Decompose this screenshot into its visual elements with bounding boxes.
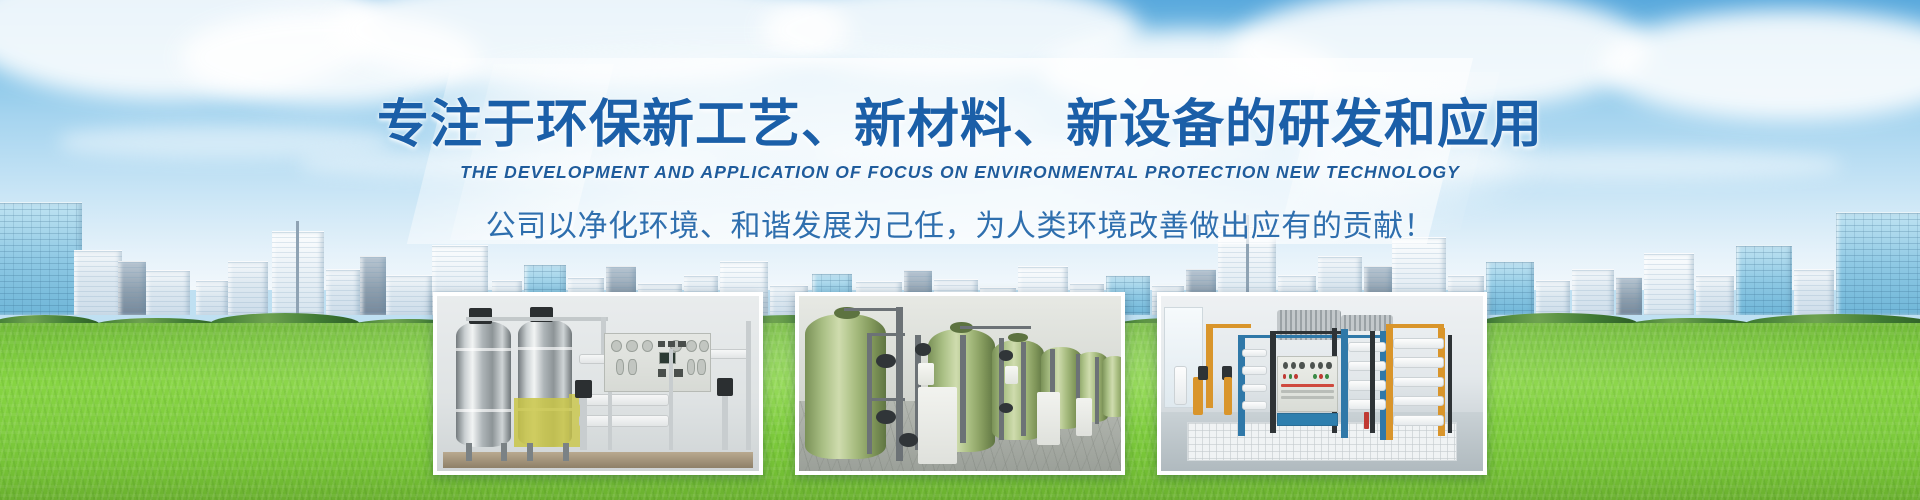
product-photo-3[interactable] [1157, 292, 1487, 475]
pipe [867, 333, 906, 336]
orange-frame [1386, 324, 1444, 328]
pump-body [1224, 377, 1232, 416]
page-title: 专注于环保新工艺、新材料、新设备的研发和应用 [0, 96, 1920, 154]
ro-membrane-vessel [1348, 399, 1387, 410]
skid-base [443, 452, 752, 468]
vertical-pipe [1095, 357, 1099, 424]
panel-base [1277, 413, 1338, 425]
valve [876, 354, 895, 368]
controller-box [918, 363, 934, 386]
blue-frame [1238, 335, 1386, 339]
ro-membrane-vessel [1348, 342, 1387, 353]
membrane-housing [579, 394, 669, 406]
control-panel [604, 333, 710, 393]
tiled-curb [1187, 422, 1457, 461]
industrial-ro-plant-image [1161, 296, 1483, 471]
ro-membrane-vessel [1393, 357, 1445, 368]
pump-motor [717, 378, 733, 396]
black-pipe [1270, 331, 1275, 433]
pipe [466, 317, 608, 321]
pump-motor [575, 380, 591, 398]
ro-membrane-vessel [1242, 401, 1268, 410]
english-subtitle: THE DEVELOPMENT AND APPLICATION OF FOCUS… [0, 162, 1920, 183]
valve [999, 350, 1013, 361]
ro-membrane-vessel [1393, 396, 1445, 407]
duct [1341, 315, 1393, 331]
pipe [867, 335, 873, 454]
pipe [844, 308, 902, 311]
company-tagline: 公司以净化环境、和谐发展为己任，为人类环境改善做出应有的贡献！ [0, 201, 1920, 245]
pump-motor [1198, 366, 1208, 380]
pump-column [580, 398, 586, 451]
pipe [867, 398, 906, 401]
black-pipe [1448, 335, 1453, 433]
ro-membrane-vessel [1393, 415, 1445, 426]
product-photo-2[interactable] [795, 292, 1125, 475]
ro-membrane-vessel [1348, 361, 1387, 372]
controller-box [1005, 366, 1018, 384]
valve [915, 343, 931, 355]
white-brine-tank [918, 387, 957, 464]
black-pipe [1370, 331, 1375, 433]
pump-body [1193, 377, 1203, 416]
white-brine-tank [1037, 392, 1060, 445]
black-pipe [1270, 331, 1341, 334]
vertical-pipe [1021, 342, 1026, 437]
ro-membrane-vessel [1242, 384, 1268, 393]
ro-membrane-vessel [1393, 377, 1445, 388]
vertical-pipe [960, 335, 966, 444]
membrane-housing [704, 349, 749, 360]
ro-membrane-vessel [1348, 380, 1387, 391]
frp-filter-tank [1102, 356, 1121, 417]
ro-membrane-vessel [1242, 366, 1268, 375]
ro-membrane-vessel [1242, 349, 1268, 358]
yellow-skirt [514, 398, 569, 447]
control-panel [1277, 356, 1338, 412]
orange-frame [1206, 324, 1251, 328]
fire-extinguisher [1364, 412, 1369, 430]
membrane-housing [579, 415, 669, 427]
valve [899, 433, 918, 447]
steel-tank [456, 321, 511, 447]
pipe [746, 321, 751, 451]
tank-top-valve [1008, 333, 1027, 342]
pipe [960, 326, 1031, 329]
product-photo-1[interactable] [433, 292, 763, 475]
cartridge-filter [1174, 366, 1187, 405]
banner-text-block: 专注于环保新工艺、新材料、新设备的研发和应用 THE DEVELOPMENT A… [0, 96, 1920, 245]
white-brine-tank [1076, 398, 1092, 437]
pipe [608, 392, 613, 450]
green-frp-tanks-image [799, 296, 1121, 471]
pump-column [722, 396, 728, 450]
ro-membrane-vessel [1393, 338, 1445, 349]
stainless-ro-skid-image [437, 296, 759, 471]
pipe [669, 349, 674, 451]
hero-banner: 专注于环保新工艺、新材料、新设备的研发和应用 THE DEVELOPMENT A… [0, 0, 1920, 500]
product-photo-row [0, 292, 1920, 475]
valve [876, 410, 895, 424]
